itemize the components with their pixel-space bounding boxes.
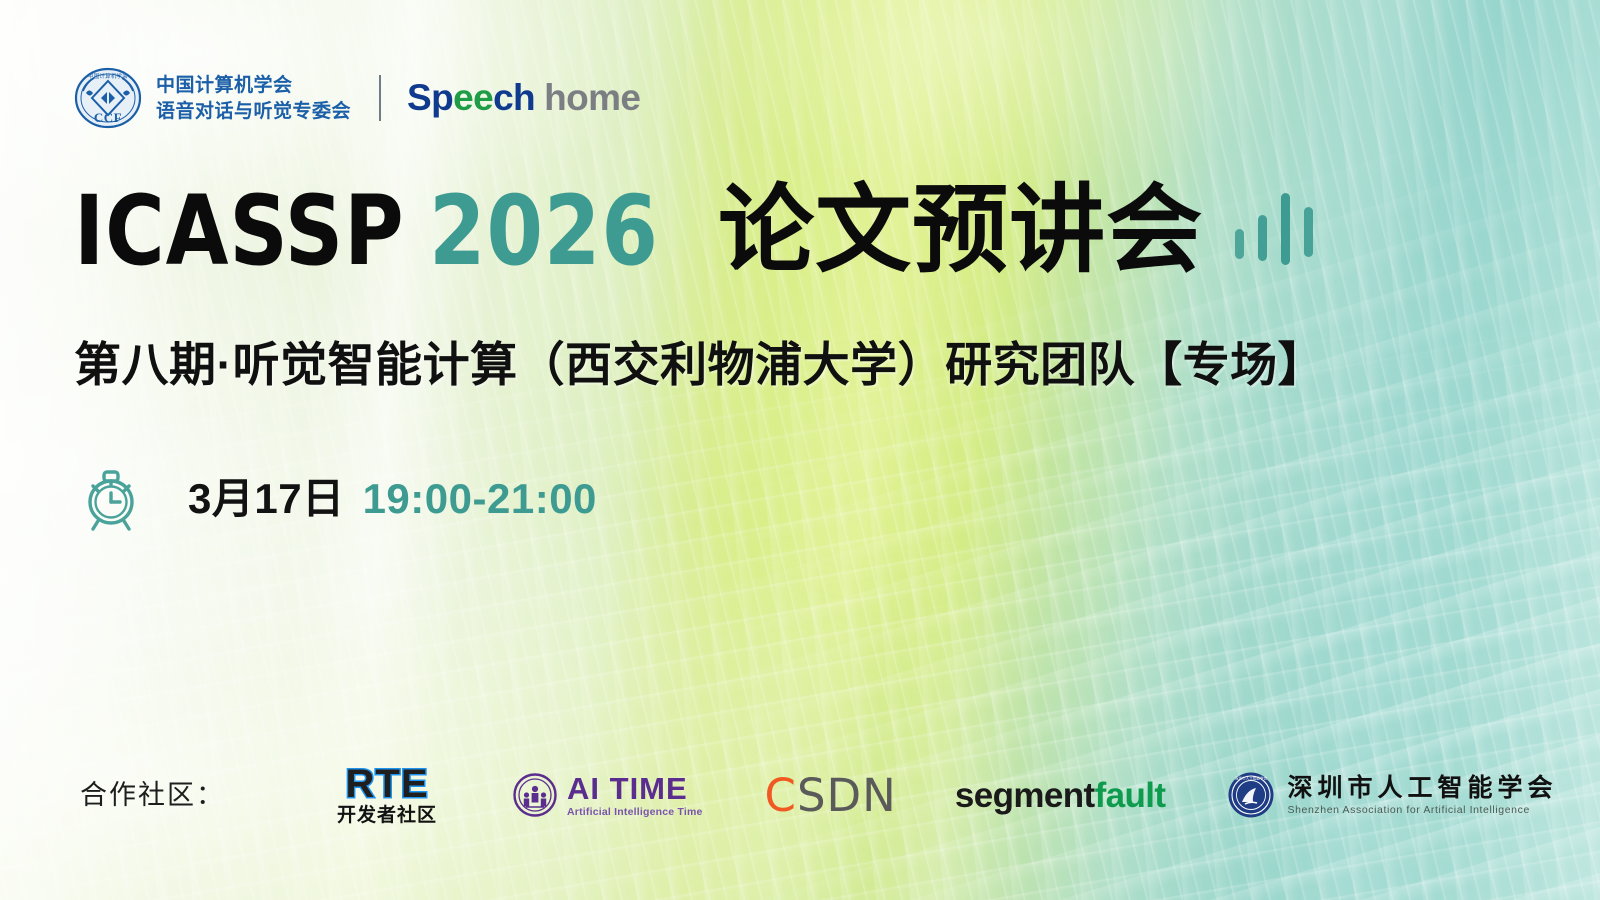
event-datetime: 3月17日 19:00-21:00 (80, 466, 597, 532)
event-date: 3月17日 (188, 476, 345, 522)
svg-text:中国计算机学会: 中国计算机学会 (88, 72, 128, 80)
ccf-line-2: 语音对话与听觉专委会 (156, 101, 351, 122)
rte-subtitle: 开发者社区 (337, 806, 437, 826)
csdn-wordmark: SDN (797, 769, 897, 822)
rte-wordmark: RTE (346, 765, 429, 803)
speechhome-ch: ch (493, 77, 535, 118)
ai-time-wordmark: AI TIME (567, 773, 703, 804)
speechhome-home: home (544, 77, 640, 118)
csdn-initial: C (765, 769, 797, 822)
partner-logo-csdn[interactable]: CSDN (765, 773, 897, 818)
partner-logo-segmentfault[interactable]: segmentfault (955, 778, 1166, 813)
partner-logo-ai-time[interactable]: AI TIME Artificial Intelligence Time (513, 773, 703, 818)
speechhome-ee: ee (453, 77, 493, 118)
brand-header: CCF 中国计算机学会 中国计算机学会 语音对话与听觉专委会 Speechhom… (74, 62, 640, 134)
segmentfault-first: segment (955, 776, 1095, 815)
brand-divider (379, 75, 381, 121)
event-time: 19:00-21:00 (363, 476, 597, 522)
speechhome-logo: Speechhome (407, 79, 640, 117)
main-title: ICASSP2026 论文预讲会 (74, 181, 1325, 281)
title-year: 2026 (429, 175, 659, 287)
partner-logo-shenzhen-ai[interactable]: 深圳市人工智能学会 深圳市人工智能学会 Shenzhen Association… (1227, 771, 1557, 819)
ccf-wordmark: 中国计算机学会 语音对话与听觉专委会 (156, 75, 351, 122)
ccf-line-1: 中国计算机学会 (156, 75, 351, 96)
partner-logo-rte[interactable]: RTE 开发者社区 (337, 765, 437, 826)
svg-text:深圳市人工智能学会: 深圳市人工智能学会 (1235, 776, 1268, 781)
partner-communities: 合作社区： RTE 开发者社区 (80, 760, 1558, 830)
shenzhen-ai-en: Shenzhen Association for Artificial Inte… (1287, 804, 1557, 816)
audio-waveform-icon (1229, 189, 1325, 271)
title-latin-part: ICASSP2026 (74, 181, 659, 281)
ai-time-tagline: Artificial Intelligence Time (567, 806, 703, 818)
ai-time-emblem-icon (513, 773, 557, 817)
alarm-clock-icon (80, 466, 142, 532)
segmentfault-second: fault (1095, 776, 1166, 815)
title-chinese: 论文预讲会 (718, 181, 1203, 281)
event-poster: CCF 中国计算机学会 中国计算机学会 语音对话与听觉专委会 Speechhom… (0, 0, 1600, 900)
partners-label: 合作社区： (80, 780, 225, 810)
ccf-lockup: CCF 中国计算机学会 中国计算机学会 语音对话与听觉专委会 (74, 67, 351, 129)
ccf-logo-icon: CCF 中国计算机学会 (74, 67, 142, 129)
title-conference: ICASSP (74, 175, 405, 287)
shenzhen-ai-cn: 深圳市人工智能学会 (1287, 775, 1557, 801)
svg-text:CCF: CCF (94, 110, 122, 125)
shenzhen-ai-emblem-icon: 深圳市人工智能学会 (1227, 771, 1275, 819)
speechhome-sp: Sp (407, 77, 453, 118)
subtitle: 第八期·听觉智能计算（西交利物浦大学）研究团队【专场】 (74, 336, 1325, 394)
